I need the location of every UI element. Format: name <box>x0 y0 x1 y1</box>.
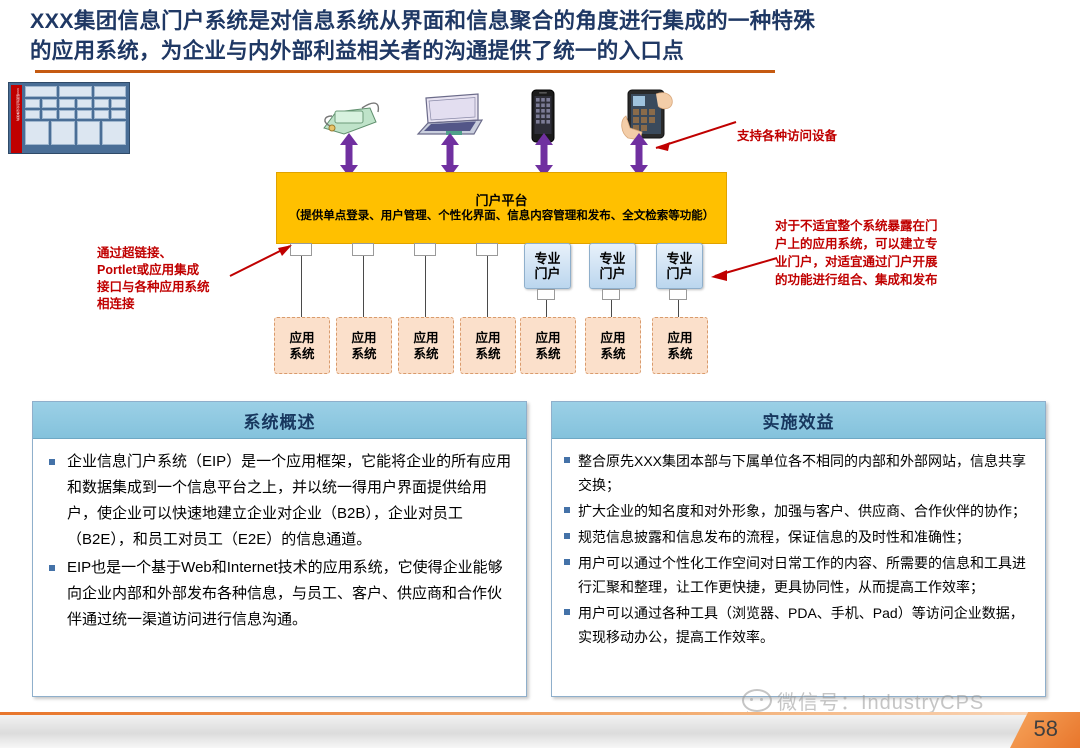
app-system-box-5[interactable]: 应用 系统 <box>520 317 576 374</box>
app-system-label-6a: 应用 <box>600 330 625 346</box>
list-item: 企业信息门户系统（EIP）是一个应用框架，它能将企业的所有应用和数据集成到一个信… <box>39 449 516 553</box>
bullet-square-icon <box>564 457 570 463</box>
page-title: XXX集团信息门户系统是对信息系统从界面和信息聚合的角度进行集成的一种特殊 的应… <box>30 6 1050 66</box>
app-system-box-6[interactable]: 应用 系统 <box>585 317 641 374</box>
app-system-label-5a: 应用 <box>535 330 560 346</box>
panel-left-bullet-1: 企业信息门户系统（EIP）是一个应用框架，它能将企业的所有应用和数据集成到一个信… <box>67 449 516 553</box>
annotation-arrow-left <box>228 240 296 280</box>
connector-line-2 <box>363 256 364 317</box>
annotation-arrow-right <box>705 254 779 284</box>
list-item: 用户可以通过各种工具（浏览器、PDA、手机、Pad）等访问企业数据，实现移动办公… <box>558 601 1035 649</box>
panel-system-overview-heading: 系统概述 <box>33 402 526 439</box>
app-system-label-4a: 应用 <box>475 330 500 346</box>
footer-band <box>0 715 1080 748</box>
list-item: EIP也是一个基于Web和Internet技术的应用系统，它使得企业能够向企业内… <box>39 555 516 633</box>
page-number: 58 <box>1034 716 1058 742</box>
bullet-square-icon <box>564 507 570 513</box>
panel-right-bullet-4: 用户可以通过个性化工作空间对日常工作的内容、所需要的信息和工具进行汇聚和整理，让… <box>578 551 1035 599</box>
specialized-portal-2[interactable]: 专业 门户 <box>589 243 636 289</box>
arrow-updown-icon-3 <box>534 133 554 177</box>
arrow-updown-icon-1 <box>339 133 359 177</box>
annotation-right: 对于不适宜整个系统暴露在门 户上的应用系统，可以建立专 业门户，对适宜通过门户开… <box>775 217 1015 289</box>
connector-line-6 <box>611 300 612 317</box>
bullet-square-icon <box>564 533 570 539</box>
bullet-square-icon <box>49 459 55 465</box>
connector-line-5 <box>546 300 547 317</box>
list-item: 整合原先XXX集团本部与下属单位各不相同的内部和外部网站，信息共享交换； <box>558 449 1035 497</box>
specialized-portal-label-3a: 专业 <box>666 251 692 266</box>
panel-right-bullet-5: 用户可以通过各种工具（浏览器、PDA、手机、Pad）等访问企业数据，实现移动办公… <box>578 601 1035 649</box>
panel-right-bullet-1: 整合原先XXX集团本部与下属单位各不相同的内部和外部网站，信息共享交换； <box>578 449 1035 497</box>
panel-implementation-benefits-heading: 实施效益 <box>552 402 1045 439</box>
title-line-2: 的应用系统，为企业与内外部利益相关者的沟通提供了统一的入口点 <box>30 36 1050 66</box>
annotation-right-line-3: 业门户，对适宜通过门户开展 <box>775 253 1015 271</box>
portal-platform-title: 门户平台 <box>475 193 527 209</box>
app-system-label-5b: 系统 <box>535 346 560 362</box>
list-item: 扩大企业的知名度和对外形象，加强与客户、供应商、合作伙伴的协作； <box>558 499 1035 523</box>
bullet-square-icon <box>564 559 570 565</box>
annotation-arrow-top-right <box>648 118 738 158</box>
connector-tab-7 <box>669 289 687 300</box>
panel-implementation-benefits: 实施效益 整合原先XXX集团本部与下属单位各不相同的内部和外部网站，信息共享交换… <box>551 401 1046 697</box>
bullet-square-icon <box>49 565 55 571</box>
specialized-portal-label-3b: 门户 <box>666 266 692 281</box>
app-system-label-1a: 应用 <box>289 330 314 346</box>
app-system-label-7a: 应用 <box>667 330 692 346</box>
connector-line-3 <box>425 256 426 317</box>
app-system-label-3b: 系统 <box>413 346 438 362</box>
connector-tab-3 <box>414 243 436 256</box>
panel-implementation-benefits-body: 整合原先XXX集团本部与下属单位各不相同的内部和外部网站，信息共享交换； 扩大企… <box>552 439 1045 657</box>
app-system-box-2[interactable]: 应用 系统 <box>336 317 392 374</box>
connector-tab-6 <box>602 289 620 300</box>
connector-line-1 <box>301 256 302 317</box>
panel-right-bullet-2: 扩大企业的知名度和对外形象，加强与客户、供应商、合作伙伴的协作； <box>578 499 1026 523</box>
connector-tab-2 <box>352 243 374 256</box>
app-system-label-7b: 系统 <box>667 346 692 362</box>
specialized-portal-3[interactable]: 专业 门户 <box>656 243 703 289</box>
watermark: 微信号：IndustryCPS <box>742 686 984 715</box>
annotation-left-line-4: 相连接 <box>97 296 272 313</box>
annotation-right-line-1: 对于不适宜整个系统暴露在门 <box>775 217 1015 235</box>
portal-platform-subtitle: （提供单点登录、用户管理、个性化界面、信息内容管理和发布、全文检索等功能） <box>283 209 721 224</box>
app-system-label-1b: 系统 <box>289 346 314 362</box>
annotation-left-line-3: 接口与各种应用系统 <box>97 279 272 296</box>
specialized-portal-1[interactable]: 专业 门户 <box>524 243 571 289</box>
list-item: 规范信息披露和信息发布的流程，保证信息的及时性和准确性； <box>558 525 1035 549</box>
panel-system-overview: 系统概述 企业信息门户系统（EIP）是一个应用框架，它能将企业的所有应用和数据集… <box>32 401 527 697</box>
panel-right-bullet-3: 规范信息披露和信息发布的流程，保证信息的及时性和准确性； <box>578 525 970 549</box>
speech-bubble-icon <box>742 689 772 712</box>
app-system-box-4[interactable]: 应用 系统 <box>460 317 516 374</box>
panel-system-overview-body: 企业信息门户系统（EIP）是一个应用框架，它能将企业的所有应用和数据集成到一个信… <box>33 439 526 641</box>
annotation-top-right: 支持各种访问设备 <box>737 128 837 145</box>
connector-tab-5 <box>537 289 555 300</box>
specialized-portal-label-2a: 专业 <box>599 251 625 266</box>
arrow-updown-icon-4 <box>629 133 649 177</box>
app-system-label-4b: 系统 <box>475 346 500 362</box>
arrow-updown-icon-2 <box>440 133 460 177</box>
app-system-label-6b: 系统 <box>600 346 625 362</box>
app-system-box-3[interactable]: 应用 系统 <box>398 317 454 374</box>
thumbnail-spine: XXX集团信息化总体架构 <box>11 85 22 153</box>
app-system-box-1[interactable]: 应用 系统 <box>274 317 330 374</box>
connector-line-4 <box>487 256 488 317</box>
annotation-right-line-4: 的功能进行组合、集成和发布 <box>775 271 1015 289</box>
thumbnail-spine-label: XXX集团信息化总体架构 <box>16 88 20 150</box>
watermark-text: 微信号：IndustryCPS <box>777 686 984 715</box>
slide-canvas: XXX集团信息门户系统是对信息系统从界面和信息聚合的角度进行集成的一种特殊 的应… <box>0 0 1080 748</box>
specialized-portal-label-2b: 门户 <box>599 266 625 281</box>
app-system-label-3a: 应用 <box>413 330 438 346</box>
list-item: 用户可以通过个性化工作空间对日常工作的内容、所需要的信息和工具进行汇聚和整理，让… <box>558 551 1035 599</box>
architecture-thumbnail: XXX集团信息化总体架构 <box>8 82 130 154</box>
specialized-portal-label-1a: 专业 <box>534 251 560 266</box>
connector-tab-4 <box>476 243 498 256</box>
bullet-square-icon <box>564 609 570 615</box>
title-underline-rule <box>35 70 775 73</box>
portal-platform-box[interactable]: 门户平台 （提供单点登录、用户管理、个性化界面、信息内容管理和发布、全文检索等功… <box>276 172 727 244</box>
panel-left-bullet-2: EIP也是一个基于Web和Internet技术的应用系统，它使得企业能够向企业内… <box>67 555 516 633</box>
app-system-label-2a: 应用 <box>351 330 376 346</box>
annotation-right-line-2: 户上的应用系统，可以建立专 <box>775 235 1015 253</box>
connector-line-7 <box>678 300 679 317</box>
thumbnail-grid <box>25 86 126 150</box>
title-line-1: XXX集团信息门户系统是对信息系统从界面和信息聚合的角度进行集成的一种特殊 <box>30 6 1050 36</box>
specialized-portal-label-1b: 门户 <box>534 266 560 281</box>
app-system-box-7[interactable]: 应用 系统 <box>652 317 708 374</box>
app-system-label-2b: 系统 <box>351 346 376 362</box>
